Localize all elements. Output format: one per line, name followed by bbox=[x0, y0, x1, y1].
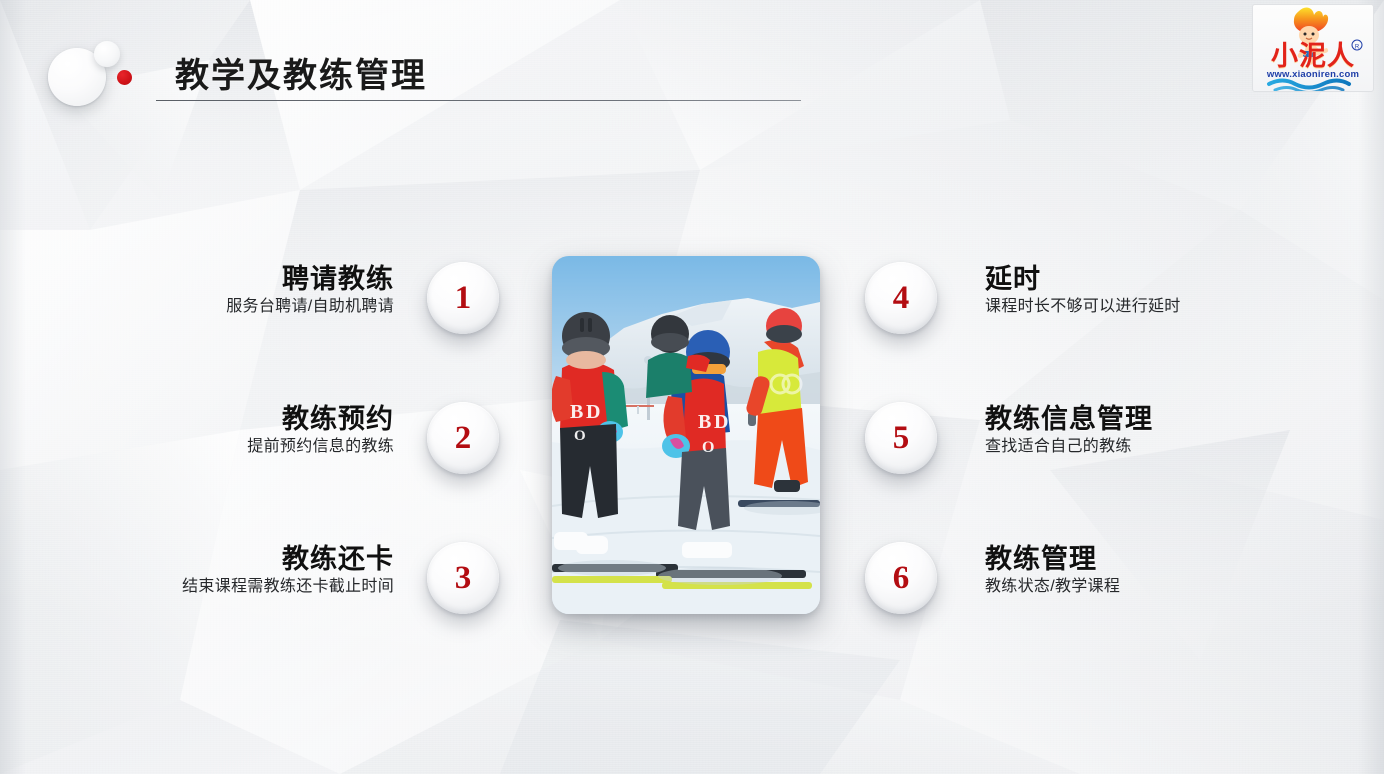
feature-subtitle-1: 服务台聘请/自助机聘请 bbox=[0, 297, 394, 317]
feature-subtitle-2: 提前预约信息的教练 bbox=[0, 437, 394, 457]
feature-text-3: 教练还卡 结束课程需教练还卡截止时间 bbox=[0, 544, 394, 597]
svg-text:O: O bbox=[702, 439, 714, 456]
svg-text:B: B bbox=[698, 411, 711, 433]
feature-text-5: 教练信息管理 查找适合自己的教练 bbox=[985, 404, 1315, 457]
feature-text-1: 聘请教练 服务台聘请/自助机聘请 bbox=[0, 264, 394, 317]
feature-title-6: 教练管理 bbox=[985, 544, 1315, 576]
feature-item-2[interactable]: 教练预约 提前预约信息的教练 2 bbox=[0, 396, 420, 492]
feature-subtitle-4: 课程时长不够可以进行延时 bbox=[985, 297, 1315, 317]
decor-red-dot-icon bbox=[117, 70, 132, 85]
number-label-5: 5 bbox=[893, 422, 910, 455]
number-bubble-2[interactable]: 2 bbox=[427, 402, 499, 474]
svg-text:D: D bbox=[714, 411, 728, 433]
feature-item-1[interactable]: 聘请教练 服务台聘请/自助机聘请 1 bbox=[0, 256, 420, 352]
header-decoration bbox=[44, 38, 174, 118]
number-bubble-4[interactable]: 4 bbox=[865, 262, 937, 334]
decor-circle-small-icon bbox=[94, 41, 120, 67]
ski-lesson-photo: B D O B D O bbox=[552, 256, 820, 614]
feature-title-3: 教练还卡 bbox=[0, 544, 394, 576]
brand-logo: R 小泥人 www.xiaoniren.com bbox=[1252, 4, 1374, 92]
title-underline bbox=[156, 100, 801, 101]
number-bubble-3[interactable]: 3 bbox=[427, 542, 499, 614]
feature-item-5[interactable]: 5 教练信息管理 查找适合自己的教练 bbox=[855, 396, 1275, 492]
number-label-3: 3 bbox=[455, 562, 472, 595]
page-title: 教学及教练管理 bbox=[175, 48, 427, 97]
number-label-6: 6 bbox=[893, 562, 910, 595]
feature-title-5: 教练信息管理 bbox=[985, 404, 1315, 436]
svg-text:O: O bbox=[574, 428, 586, 444]
feature-item-3[interactable]: 教练还卡 结束课程需教练还卡截止时间 3 bbox=[0, 536, 420, 632]
number-bubble-6[interactable]: 6 bbox=[865, 542, 937, 614]
feature-subtitle-6: 教练状态/教学课程 bbox=[985, 577, 1315, 597]
logo-url: www.xiaoniren.com bbox=[1253, 69, 1373, 80]
feature-title-2: 教练预约 bbox=[0, 404, 394, 436]
number-bubble-1[interactable]: 1 bbox=[427, 262, 499, 334]
number-label-2: 2 bbox=[455, 422, 472, 455]
feature-title-4: 延时 bbox=[985, 264, 1315, 296]
logo-name: 小泥人 bbox=[1253, 43, 1373, 70]
feature-item-4[interactable]: 4 延时 课程时长不够可以进行延时 bbox=[855, 256, 1275, 352]
feature-text-4: 延时 课程时长不够可以进行延时 bbox=[985, 264, 1315, 317]
feature-text-2: 教练预约 提前预约信息的教练 bbox=[0, 404, 394, 457]
ski-lesson-illustration: B D O B D O bbox=[552, 256, 820, 614]
feature-subtitle-5: 查找适合自己的教练 bbox=[985, 437, 1315, 457]
number-label-1: 1 bbox=[455, 282, 472, 315]
feature-title-1: 聘请教练 bbox=[0, 264, 394, 296]
number-bubble-5[interactable]: 5 bbox=[865, 402, 937, 474]
slide-canvas: 教学及教练管理 bbox=[0, 0, 1384, 774]
feature-subtitle-3: 结束课程需教练还卡截止时间 bbox=[0, 577, 394, 597]
number-label-4: 4 bbox=[893, 282, 910, 315]
feature-text-6: 教练管理 教练状态/教学课程 bbox=[985, 544, 1315, 597]
svg-text:D: D bbox=[586, 401, 600, 423]
svg-text:B: B bbox=[570, 401, 583, 423]
feature-item-6[interactable]: 6 教练管理 教练状态/教学课程 bbox=[855, 536, 1275, 632]
